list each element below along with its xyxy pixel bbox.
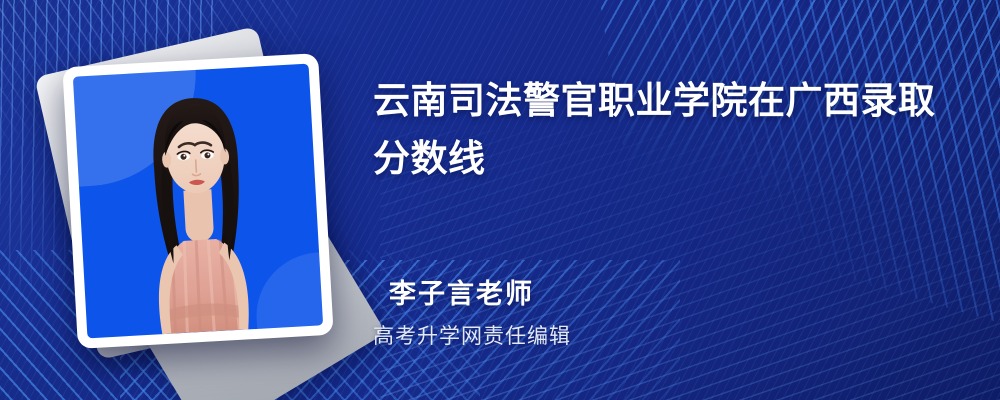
cover-text-block: 云南司法警官职业学院在广西录取分数线 李子言老师 高考升学网责任编辑	[373, 0, 973, 400]
article-cover-banner: 云南司法警官职业学院在广西录取分数线 李子言老师 高考升学网责任编辑	[0, 0, 1000, 400]
portrait-illustration	[92, 77, 306, 338]
author-portrait-photo	[73, 64, 323, 339]
photo-card-front	[62, 53, 333, 349]
author-photo-stack	[48, 42, 348, 352]
author-role: 高考升学网责任编辑	[373, 320, 571, 350]
page-title: 云南司法警官职业学院在广西录取分数线	[373, 72, 958, 188]
author-name: 李子言老师	[389, 272, 534, 311]
